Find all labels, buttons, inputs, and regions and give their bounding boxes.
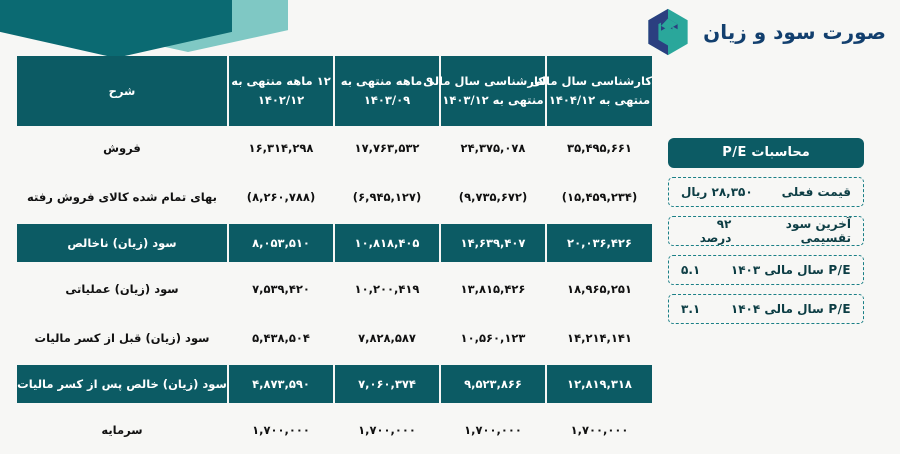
cell-c3: ۱۴,۶۳۹,۴۰۷ [439, 224, 545, 262]
cell-c4: ۲۰,۰۳۶,۴۲۶ [545, 224, 652, 262]
pe-calculations-panel: محاسبات P/E قیمت فعلی۲۸,۳۵۰ ریالآخرین سو… [668, 138, 864, 324]
pe-row-label: آخرین سود تقسیمی [731, 217, 851, 245]
table-row: (۱۵,۴۵۹,۲۳۴)(۹,۷۳۵,۶۷۲)(۶,۹۴۵,۱۲۷)(۸,۲۶۰… [17, 175, 652, 219]
pe-row-value: ۵.۱ [681, 263, 700, 277]
cell-c1: ۴,۸۷۳,۵۹۰ [227, 365, 333, 403]
table-row: ۱۲,۸۱۹,۳۱۸۹,۵۲۳,۸۶۶۷,۰۶۰,۳۷۴۴,۸۷۳,۵۹۰سود… [17, 365, 652, 403]
cell-c2: ۷,۸۲۸,۵۸۷ [333, 316, 439, 360]
cell-c4: ۳۵,۴۹۵,۶۶۱ [545, 126, 652, 170]
pe-row-label: P/E سال مالی ۱۴۰۴ [731, 302, 851, 316]
cell-description: سود (زیان) قبل از کسر مالیات [17, 316, 227, 360]
cell-c3: ۱۳,۸۱۵,۴۲۶ [439, 267, 545, 311]
cell-c2: ۱۰,۸۱۸,۴۰۵ [333, 224, 439, 262]
pe-row-label: P/E سال مالی ۱۴۰۳ [731, 263, 851, 277]
cell-c2: ۱۰,۲۰۰,۴۱۹ [333, 267, 439, 311]
cell-c4: ۱,۷۰۰,۰۰۰ [545, 408, 652, 452]
cell-description: سرمایه [17, 408, 227, 452]
cell-description: سود (زیان) ناخالص [17, 224, 227, 262]
header-line: شرح [17, 82, 227, 101]
cell-c3: ۹,۵۲۳,۸۶۶ [439, 365, 545, 403]
header-line: ۱۲ ماهه منتهی به [229, 72, 333, 91]
table-row: ۱,۷۰۰,۰۰۰۱,۷۰۰,۰۰۰۱,۷۰۰,۰۰۰۱,۷۰۰,۰۰۰سرما… [17, 408, 652, 452]
table-row: ۳۵,۴۹۵,۶۶۱۲۴,۳۷۵,۰۷۸۱۷,۷۶۳,۵۳۲۱۶,۳۱۴,۲۹۸… [17, 126, 652, 170]
column-header-c2: ۹ ماهه منتهی به ۱۴۰۳/۰۹ [333, 56, 439, 126]
cell-description: سود (زیان) خالص پس از کسر مالیات [17, 365, 227, 403]
header-line: منتهی به ۱۴۰۴/۱۲ [547, 91, 652, 110]
cell-description: بهای تمام شده کالای فروش رفته [17, 175, 227, 219]
cell-c1: ۵,۴۳۸,۵۰۴ [227, 316, 333, 360]
cell-c4: ۱۲,۸۱۹,۳۱۸ [545, 365, 652, 403]
header-line: ۱۴۰۳/۰۹ [335, 91, 439, 110]
cell-c4: (۱۵,۴۵۹,۲۳۴) [545, 175, 652, 219]
table-header-row: کارشناسی سال مالی منتهی به ۱۴۰۴/۱۲ کارشن… [17, 56, 652, 126]
cell-description: فروش [17, 126, 227, 170]
pe-row-value: ۹۲ درصد [681, 217, 731, 245]
column-header-description: شرح [17, 56, 227, 126]
pe-row: P/E سال مالی ۱۴۰۴۳.۱ [668, 294, 864, 324]
pe-row: آخرین سود تقسیمی۹۲ درصد [668, 216, 864, 246]
pe-row: P/E سال مالی ۱۴۰۳۵.۱ [668, 255, 864, 285]
cell-c4: ۱۸,۹۶۵,۲۵۱ [545, 267, 652, 311]
cell-c2: ۷,۰۶۰,۳۷۴ [333, 365, 439, 403]
header-line: منتهی به ۱۴۰۳/۱۲ [441, 91, 545, 110]
column-header-c4: کارشناسی سال مالی منتهی به ۱۴۰۴/۱۲ [545, 56, 652, 126]
pe-row: قیمت فعلی۲۸,۳۵۰ ریال [668, 177, 864, 207]
cell-c4: ۱۴,۲۱۴,۱۴۱ [545, 316, 652, 360]
cell-c1: ۱,۷۰۰,۰۰۰ [227, 408, 333, 452]
column-header-c3: کارشناسی سال مالی منتهی به ۱۴۰۳/۱۲ [439, 56, 545, 126]
page-title: صورت سود و زیان [703, 20, 886, 44]
cell-c1: ۱۶,۳۱۴,۲۹۸ [227, 126, 333, 170]
cell-c3: ۱,۷۰۰,۰۰۰ [439, 408, 545, 452]
cell-c2: ۱,۷۰۰,۰۰۰ [333, 408, 439, 452]
header-line: ۹ ماهه منتهی به [335, 72, 439, 91]
table-row: ۱۸,۹۶۵,۲۵۱۱۳,۸۱۵,۴۲۶۱۰,۲۰۰,۴۱۹۷,۵۳۹,۴۲۰س… [17, 267, 652, 311]
cell-c2: ۱۷,۷۶۳,۵۳۲ [333, 126, 439, 170]
table-row: ۱۴,۲۱۴,۱۴۱۱۰,۵۶۰,۱۲۳۷,۸۲۸,۵۸۷۵,۴۳۸,۵۰۴سو… [17, 316, 652, 360]
cell-c3: (۹,۷۳۵,۶۷۲) [439, 175, 545, 219]
cell-c1: ۷,۵۳۹,۴۲۰ [227, 267, 333, 311]
pe-panel-title: محاسبات P/E [668, 138, 864, 168]
pe-row-label: قیمت فعلی [782, 185, 851, 199]
cell-c1: ۸,۰۵۳,۵۱۰ [227, 224, 333, 262]
pe-rows-container: قیمت فعلی۲۸,۳۵۰ ریالآخرین سود تقسیمی۹۲ د… [668, 177, 864, 324]
income-statement-table: کارشناسی سال مالی منتهی به ۱۴۰۴/۱۲ کارشن… [17, 56, 652, 454]
cell-c2: (۶,۹۴۵,۱۲۷) [333, 175, 439, 219]
pe-row-value: ۳.۱ [681, 302, 700, 316]
cell-c3: ۱۰,۵۶۰,۱۲۳ [439, 316, 545, 360]
column-header-c1: ۱۲ ماهه منتهی به ۱۴۰۲/۱۲ [227, 56, 333, 126]
cell-description: سود (زیان) عملیاتی [17, 267, 227, 311]
header-line: کارشناسی سال مالی [547, 72, 652, 91]
table-body: ۳۵,۴۹۵,۶۶۱۲۴,۳۷۵,۰۷۸۱۷,۷۶۳,۵۳۲۱۶,۳۱۴,۲۹۸… [17, 126, 652, 454]
table-row: ۲۰,۰۳۶,۴۲۶۱۴,۶۳۹,۴۰۷۱۰,۸۱۸,۴۰۵۸,۰۵۳,۵۱۰س… [17, 224, 652, 262]
page-header: صورت سود و زیان [645, 8, 886, 56]
cell-c1: (۸,۲۶۰,۷۸۸) [227, 175, 333, 219]
cell-c3: ۲۴,۳۷۵,۰۷۸ [439, 126, 545, 170]
hexagon-s-logo-icon [645, 8, 691, 56]
header-line: ۱۴۰۲/۱۲ [229, 91, 333, 110]
statement-page: صورت سود و زیان کارشناسی سال مالی منتهی … [0, 0, 900, 454]
pe-row-value: ۲۸,۳۵۰ ریال [681, 185, 753, 199]
